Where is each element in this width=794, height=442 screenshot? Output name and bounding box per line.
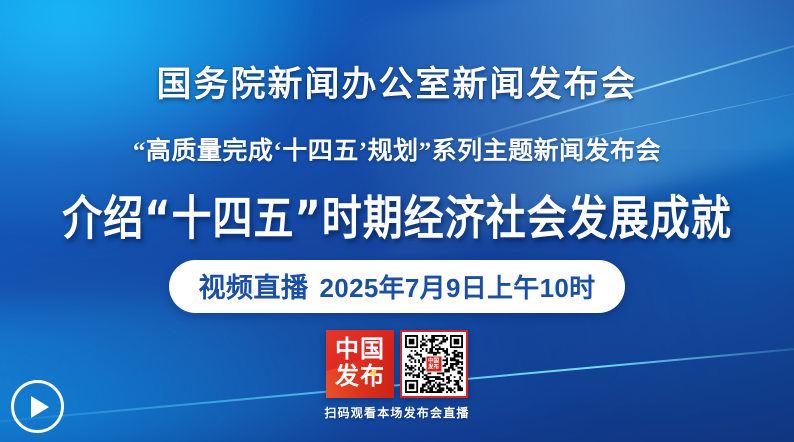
qr-center-line-2: 发布 (428, 364, 439, 370)
logo-line-1: 中国 (335, 338, 385, 363)
headline: 介绍“十四五”时期经济社会发展成就 (62, 180, 732, 248)
page-title: 国务院新闻办公室新闻发布会 (156, 56, 637, 107)
qr-center-logo: 中国 发布 (425, 356, 442, 373)
china-release-logo: 中国 发布 (326, 330, 394, 398)
scan-row: 中国 发布 中国 发布 (326, 330, 468, 398)
live-schedule-badge: 视频直播 2025年7月9日上午10时 (169, 260, 626, 313)
qr-center-line-1: 中国 (428, 358, 439, 364)
play-icon (31, 396, 49, 418)
scan-block: 中国 发布 中国 发布 扫码观看本场发布会直播 (324, 330, 469, 421)
broadcast-poster: 国务院新闻办公室新闻发布会 “高质量完成‘十四五’规划”系列主题新闻发布会 介绍… (0, 0, 794, 442)
poster-content: 国务院新闻办公室新闻发布会 “高质量完成‘十四五’规划”系列主题新闻发布会 介绍… (0, 0, 794, 442)
broadcast-datetime: 2025年7月9日上午10时 (320, 268, 596, 305)
logo-line-2: 发布 (335, 365, 385, 390)
scan-caption: 扫码观看本场发布会直播 (324, 404, 469, 421)
play-button[interactable] (11, 380, 64, 433)
series-subtitle: “高质量完成‘十四五’规划”系列主题新闻发布会 (133, 131, 661, 167)
qr-code[interactable]: 中国 发布 (400, 330, 468, 398)
live-label: 视频直播 (199, 266, 309, 305)
